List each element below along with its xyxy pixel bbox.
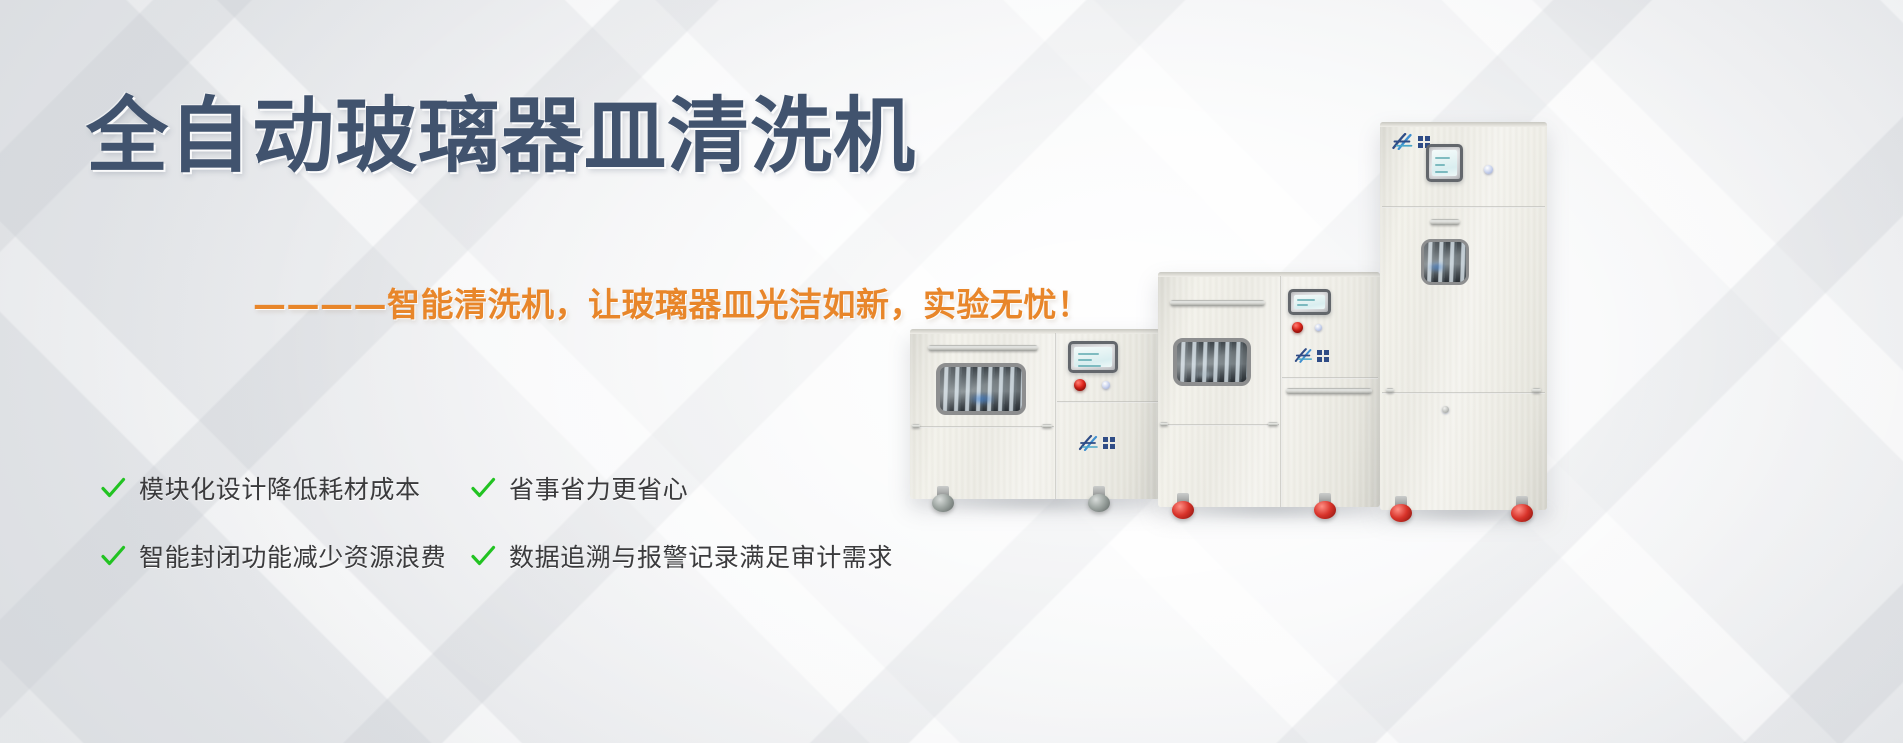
power-indicator-button[interactable] <box>1484 165 1493 174</box>
viewing-window <box>1173 338 1251 386</box>
product-image-undercounter-glassware-washer <box>910 329 1160 499</box>
brand-logo <box>1294 348 1329 363</box>
feature-label: 智能封闭功能减少资源浪费 <box>139 538 446 574</box>
feature-list: 模块化设计降低耗材成本 省事省力更省心 智能封闭功能减少资源浪费 数据追溯与报警… <box>100 470 980 574</box>
product-image-group <box>880 0 1903 743</box>
touchscreen-display[interactable] <box>1294 295 1325 309</box>
feature-label: 数据追溯与报警记录满足审计需求 <box>509 538 893 574</box>
product-image-freestanding-glassware-washer <box>1158 272 1380 507</box>
brand-logo <box>1391 133 1430 150</box>
feature-item: 模块化设计降低耗材成本 <box>100 470 470 506</box>
viewing-window <box>1421 239 1469 285</box>
product-image-tall-column-glassware-washer <box>1380 122 1547 510</box>
glass-reflection <box>936 363 986 415</box>
caster-wheel <box>932 486 954 512</box>
screen-text-line <box>1435 157 1450 159</box>
lower-handle-right[interactable] <box>1268 422 1278 426</box>
feature-item: 数据追溯与报警记录满足审计需求 <box>470 538 900 574</box>
screen-text-line <box>1078 359 1092 361</box>
power-indicator-button[interactable] <box>1102 381 1110 389</box>
feature-item: 智能封闭功能减少资源浪费 <box>100 538 470 574</box>
lower-handle-left[interactable] <box>912 424 920 428</box>
power-indicator-button[interactable] <box>1315 324 1322 331</box>
door-seam <box>912 426 1054 428</box>
screen-text-line <box>1078 365 1102 367</box>
emergency-stop-button[interactable] <box>1074 379 1086 391</box>
screen-text-line <box>1435 171 1449 173</box>
logo-h-icon <box>1078 435 1100 451</box>
logo-dots-icon <box>1317 350 1329 362</box>
control-panel[interactable] <box>1068 341 1118 373</box>
emergency-stop-button[interactable] <box>1292 322 1303 333</box>
caster-wheel <box>1390 496 1412 522</box>
check-icon <box>100 475 126 501</box>
caster-wheel <box>1172 493 1194 519</box>
lower-panel-latch[interactable] <box>1442 406 1449 413</box>
panel-seam <box>1280 276 1282 507</box>
page-title: 全自动玻璃器皿清洗机 <box>86 96 916 178</box>
brushed-texture <box>1380 122 1547 510</box>
door-handle[interactable] <box>928 345 1038 351</box>
door-handle[interactable] <box>1430 219 1460 225</box>
check-icon <box>470 475 496 501</box>
panel-seam <box>1055 333 1057 499</box>
feature-item: 省事省力更省心 <box>470 470 900 506</box>
top-edge <box>1158 272 1380 277</box>
screen-text-line <box>1078 353 1099 355</box>
control-seam <box>1282 377 1378 379</box>
touchscreen-display[interactable] <box>1074 347 1112 367</box>
caster-wheel <box>1314 493 1336 519</box>
upper-section-seam <box>1382 206 1545 208</box>
control-seam <box>1057 401 1158 403</box>
control-panel[interactable] <box>1426 144 1463 182</box>
hero-banner: 全自动玻璃器皿清洗机 ————智能清洗机，让玻璃器皿光洁如新，实验无忧！ 模块化… <box>0 0 1903 743</box>
check-icon <box>470 543 496 569</box>
caster-wheel <box>1088 486 1110 512</box>
door-seam <box>1160 424 1279 426</box>
feature-label: 省事省力更省心 <box>509 470 688 506</box>
feature-label: 模块化设计降低耗材成本 <box>139 470 421 506</box>
lower-handle-right[interactable] <box>1042 424 1052 428</box>
screen-text-line <box>1297 304 1308 306</box>
logo-h-icon <box>1294 348 1314 363</box>
screen-text-line <box>1435 164 1445 166</box>
logo-dots-icon <box>1103 437 1115 449</box>
lower-section-seam <box>1382 392 1545 394</box>
lower-handle-left[interactable] <box>1386 388 1394 393</box>
lower-handle-left[interactable] <box>1160 422 1168 426</box>
check-icon <box>100 543 126 569</box>
brand-logo <box>1078 435 1115 451</box>
top-edge <box>910 329 1160 334</box>
touchscreen-display[interactable] <box>1432 150 1457 176</box>
control-panel[interactable] <box>1288 289 1331 315</box>
glass-reflection <box>1173 338 1217 386</box>
screen-text-line <box>1297 299 1315 301</box>
top-edge <box>1380 122 1547 127</box>
door-handle[interactable] <box>1170 300 1265 306</box>
logo-h-icon <box>1391 133 1415 150</box>
lower-handle-right[interactable] <box>1532 388 1541 393</box>
lower-drawer-handle[interactable] <box>1286 388 1372 394</box>
viewing-window <box>936 363 1026 415</box>
caster-wheel <box>1511 496 1533 522</box>
